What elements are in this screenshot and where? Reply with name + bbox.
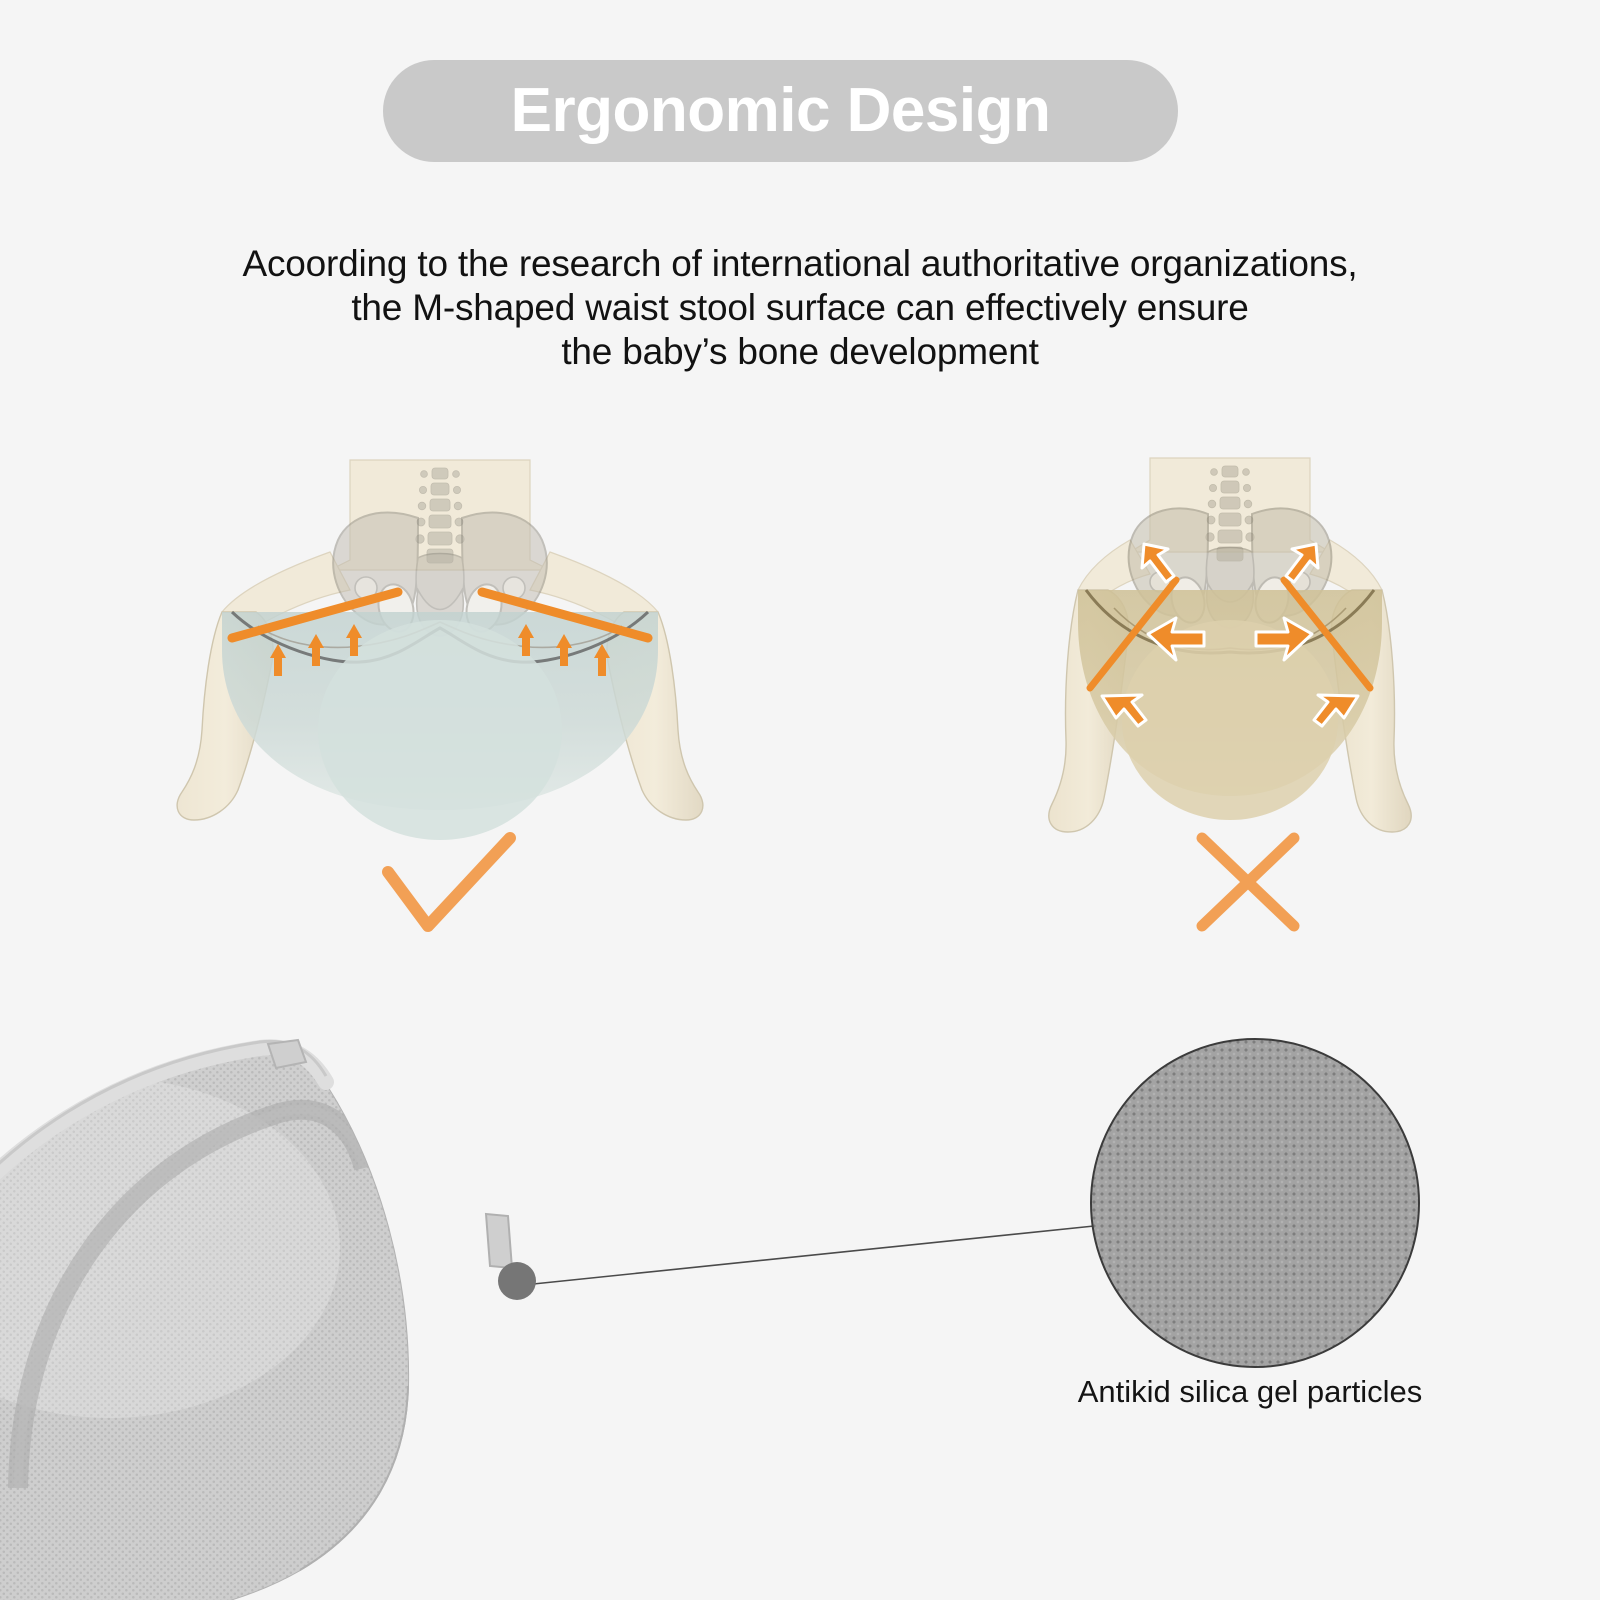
page-title: Ergonomic Design xyxy=(511,80,1051,142)
check-icon xyxy=(370,826,530,936)
illustration-incorrect-posture xyxy=(990,440,1470,840)
cross-icon xyxy=(1168,826,1328,936)
illustration-correct-posture xyxy=(160,440,720,840)
subtitle-line-3: the baby’s bone development xyxy=(80,330,1520,374)
subtitle-line-1: Acoording to the research of internation… xyxy=(80,242,1520,286)
silica-gel-particles-zoom-circle xyxy=(1090,1038,1420,1368)
callout-leader-line xyxy=(480,1190,1120,1330)
ergonomic-design-infographic: Ergonomic Design Acoording to the resear… xyxy=(0,0,1600,1600)
subtitle-paragraph: Acoording to the research of internation… xyxy=(80,242,1520,374)
page-title-pill: Ergonomic Design xyxy=(383,60,1178,162)
subtitle-line-2: the M-shaped waist stool surface can eff… xyxy=(80,286,1520,330)
pelvis-diagram-incorrect xyxy=(990,440,1470,840)
magnifier-caption: Antikid silica gel particles xyxy=(1000,1373,1500,1411)
callout-dot-marker xyxy=(498,1262,536,1300)
pelvis-diagram-correct xyxy=(160,440,720,840)
